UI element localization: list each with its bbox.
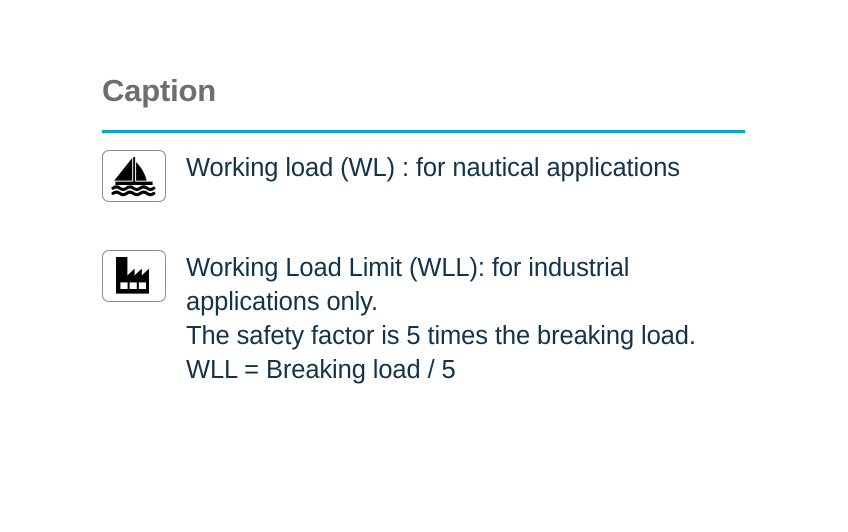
list-item: Working load (WL) : for nautical applica… [102, 150, 746, 202]
sailboat-icon [108, 155, 160, 197]
list-item-label: Working Load Limit (WLL): for industrial… [186, 250, 746, 387]
list-item-label: Working load (WL) : for nautical applica… [186, 150, 746, 185]
caption-page: Caption [0, 0, 848, 532]
factory-icon [110, 255, 158, 297]
sailboat-icon-box [102, 150, 166, 202]
caption-block: Caption [102, 74, 746, 387]
page-title: Caption [102, 74, 746, 108]
list-item: Working Load Limit (WLL): for industrial… [102, 250, 746, 387]
factory-icon-box [102, 250, 166, 302]
title-divider [102, 130, 745, 133]
caption-entry-list: Working load (WL) : for nautical applica… [102, 150, 746, 387]
